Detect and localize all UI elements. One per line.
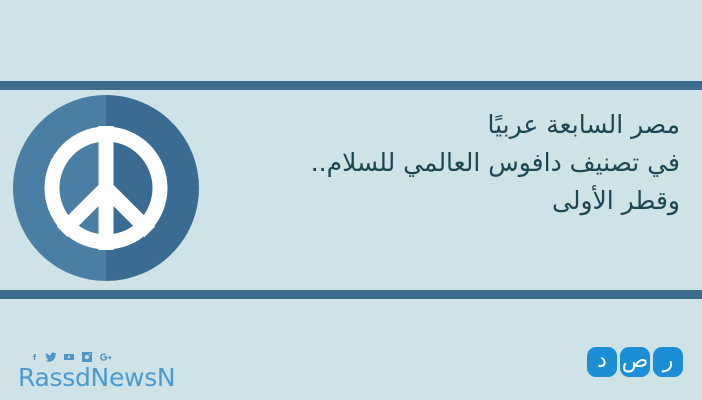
headline-line-1: مصر السابعة عربيًا [260,106,680,144]
rassd-logo-tile-sad: ص [620,347,650,377]
facebook-icon[interactable] [31,351,39,363]
footer: RassdNewsN د ص ر [0,299,702,400]
rassd-logo-tile-ra: ر [653,347,683,377]
brand-handle: RassdNewsN [18,363,175,393]
rassd-logo-tile-dal: د [587,347,617,377]
hero-band: مصر السابعة عربيًا في تصنيف دافوس العالم… [0,90,702,290]
headline-line-3: وقطر الأولى [260,182,680,220]
instagram-icon[interactable] [81,351,93,363]
youtube-icon[interactable] [63,351,75,363]
social-links [31,350,113,364]
peace-sign-icon [13,95,199,281]
headline: مصر السابعة عربيًا في تصنيف دافوس العالم… [260,106,680,220]
google-plus-icon[interactable] [99,351,113,363]
divider-top [0,81,702,90]
headline-line-2: في تصنيف دافوس العالمي للسلام.. [260,144,680,182]
divider-bottom [0,290,702,299]
rassd-logo: د ص ر [587,347,683,377]
news-card: مصر السابعة عربيًا في تصنيف دافوس العالم… [0,0,702,400]
twitter-icon[interactable] [45,351,57,363]
